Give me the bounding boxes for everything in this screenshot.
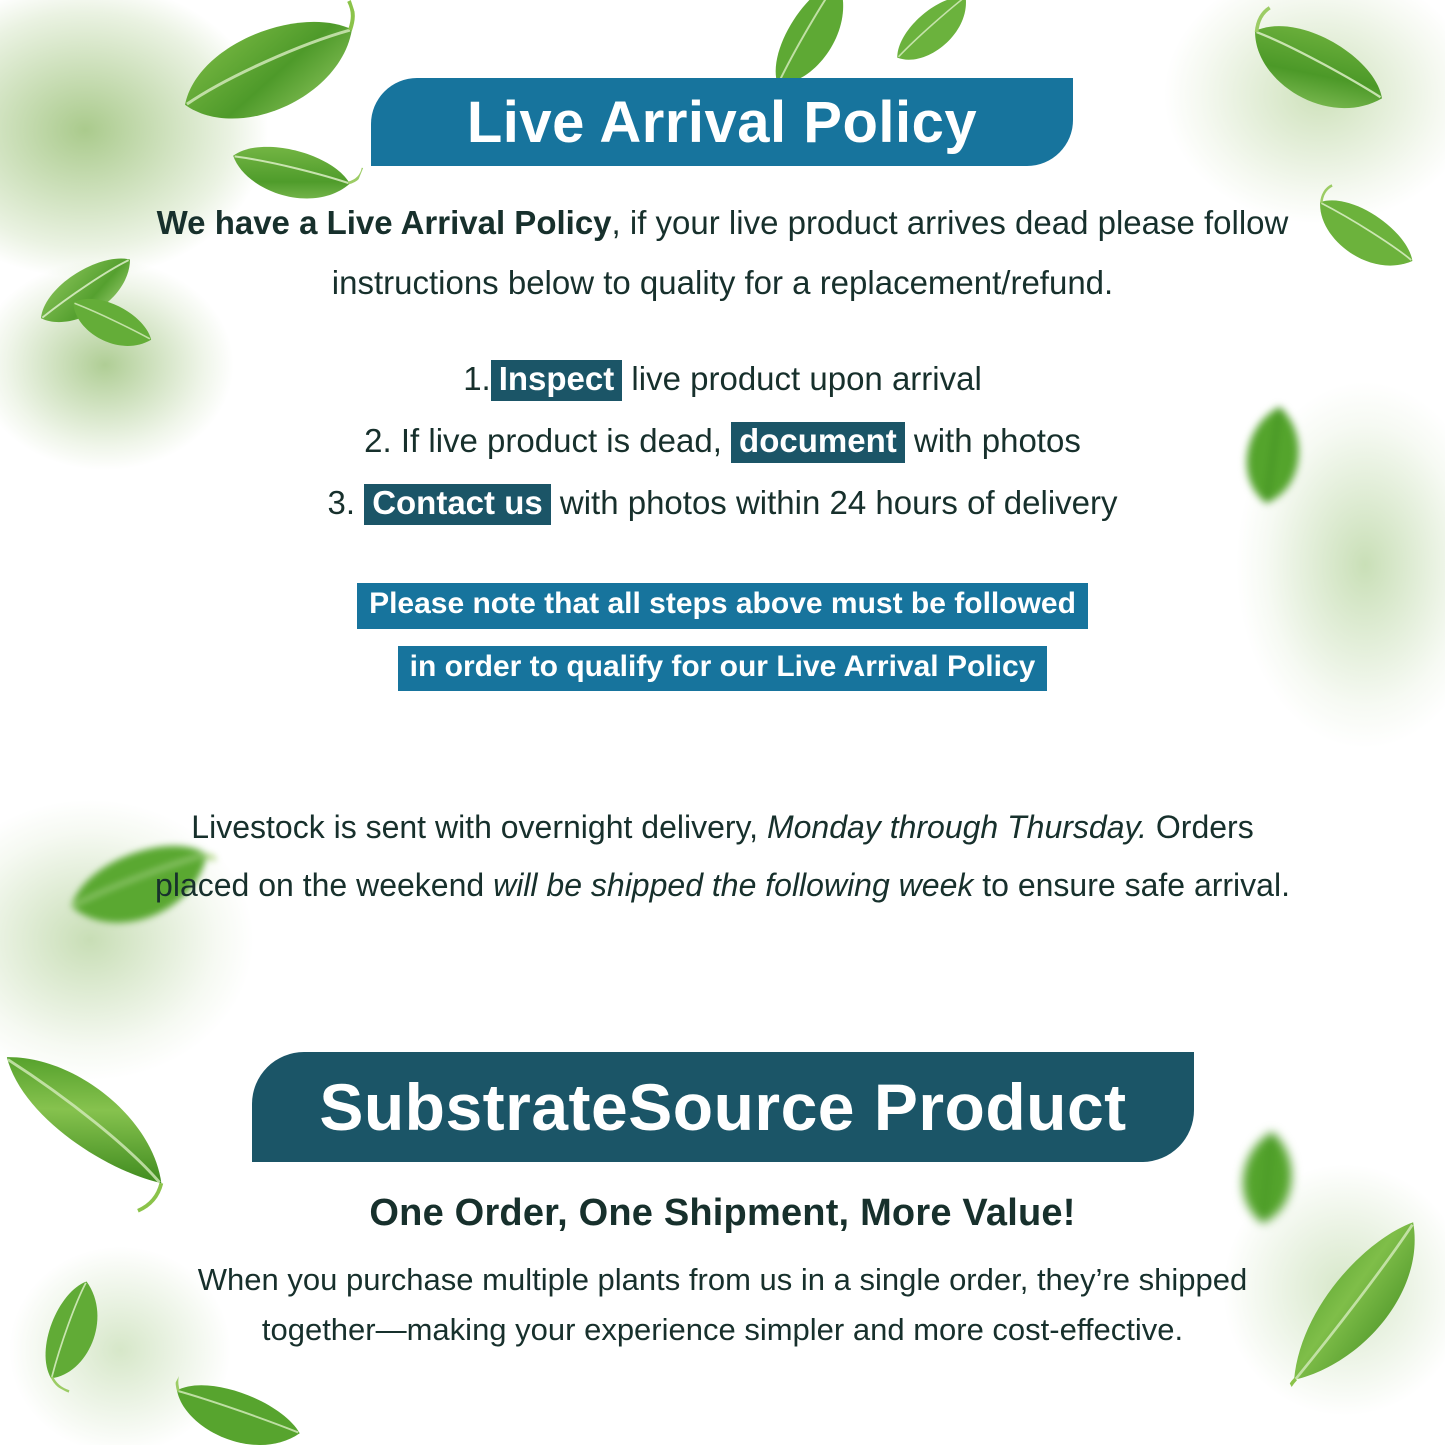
- shipping-seg-4-italic: will be shipped the following week: [493, 867, 973, 903]
- leaf-left-mid: [16, 227, 159, 358]
- value-heading: One Order, One Shipment, More Value!: [150, 1192, 1295, 1235]
- step-number: 1.: [463, 360, 491, 397]
- note-line-2: in order to qualify for our Live Arrival…: [398, 646, 1048, 692]
- step-after: with photos within 24 hours of delivery: [551, 484, 1118, 521]
- title-banner: Live Arrival Policy: [371, 78, 1073, 166]
- shipping-seg-1: Livestock is sent with overnight deliver…: [191, 809, 767, 845]
- leaf-top-right-a: [1216, 0, 1412, 164]
- policy-infographic: Live Arrival Policy We have a Live Arriv…: [0, 0, 1445, 1445]
- step-after: with photos: [905, 422, 1081, 459]
- steps-list: 1.Inspect live product upon arrival 2. I…: [150, 348, 1295, 534]
- step-number: 2.: [364, 422, 392, 459]
- note-row: in order to qualify for our Live Arrival…: [150, 646, 1295, 692]
- value-body: When you purchase multiple plants from u…: [140, 1255, 1305, 1355]
- note-line-1: Please note that all steps above must be…: [357, 583, 1088, 629]
- shipping-paragraph: Livestock is sent with overnight deliver…: [150, 798, 1295, 914]
- leaf-bottom-center: [151, 1341, 322, 1445]
- step-number: 3.: [327, 484, 355, 521]
- step-before: If live product is dead,: [392, 422, 731, 459]
- leaf-bottom-left-small: [7, 1263, 138, 1402]
- intro-paragraph: We have a Live Arrival Policy, if your l…: [150, 193, 1295, 313]
- list-item: 3. Contact us with photos within 24 hour…: [150, 472, 1295, 534]
- list-item: 2. If live product is dead, document wit…: [150, 410, 1295, 472]
- note-row: Please note that all steps above must be…: [150, 583, 1295, 629]
- brand-banner: SubstrateSource Product: [252, 1052, 1194, 1162]
- list-item: 1.Inspect live product upon arrival: [150, 348, 1295, 410]
- step-highlight-inspect: Inspect: [491, 360, 623, 401]
- leaf-top-right-b: [1287, 161, 1438, 310]
- step-after: live product upon arrival: [622, 360, 982, 397]
- leaf-top-left-large: [149, 0, 392, 187]
- shipping-seg-5: to ensure safe arrival.: [973, 867, 1290, 903]
- shipping-seg-2-italic: Monday through Thursday.: [767, 809, 1147, 845]
- policy-note: Please note that all steps above must be…: [150, 583, 1295, 708]
- step-highlight-contact-us[interactable]: Contact us: [364, 484, 551, 525]
- step-highlight-document: document: [731, 422, 905, 463]
- intro-strong: We have a Live Arrival Policy: [157, 204, 612, 241]
- step-before: [355, 484, 364, 521]
